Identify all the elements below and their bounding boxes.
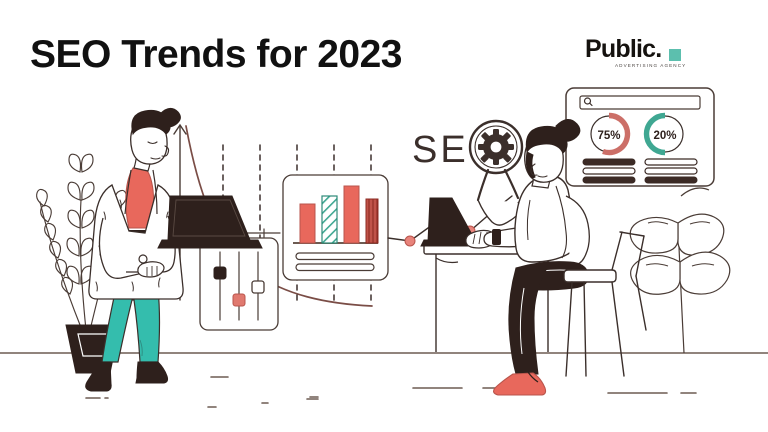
bar-2	[322, 196, 337, 243]
slider-handle-3	[252, 281, 264, 293]
screen-bar-rows-right	[645, 159, 697, 183]
bar-chart-card	[283, 175, 388, 280]
bar-4	[366, 199, 378, 243]
caption-line-2	[296, 264, 374, 271]
slider-handle-1	[214, 267, 226, 279]
illustration-canvas: SEO Trends for 2023 Public. ADVERTISING …	[0, 0, 768, 432]
donut-label-75: 75%	[597, 130, 620, 142]
bar-1	[300, 204, 315, 243]
scene-artwork: SE	[0, 0, 768, 432]
graph-node	[405, 236, 415, 246]
search-bar[interactable]	[580, 96, 700, 109]
bar-3	[344, 186, 359, 243]
caption-line-1	[296, 253, 374, 260]
seo-letters: SE	[412, 129, 469, 171]
analytics-screen: 75% 20%	[566, 88, 714, 186]
slider-handle-2	[233, 294, 245, 306]
seo-badge: SE	[412, 121, 522, 225]
screen-bar-rows-left	[583, 159, 635, 183]
donut-label-20: 20%	[653, 130, 676, 142]
magnifier-gear-icon	[470, 121, 522, 225]
